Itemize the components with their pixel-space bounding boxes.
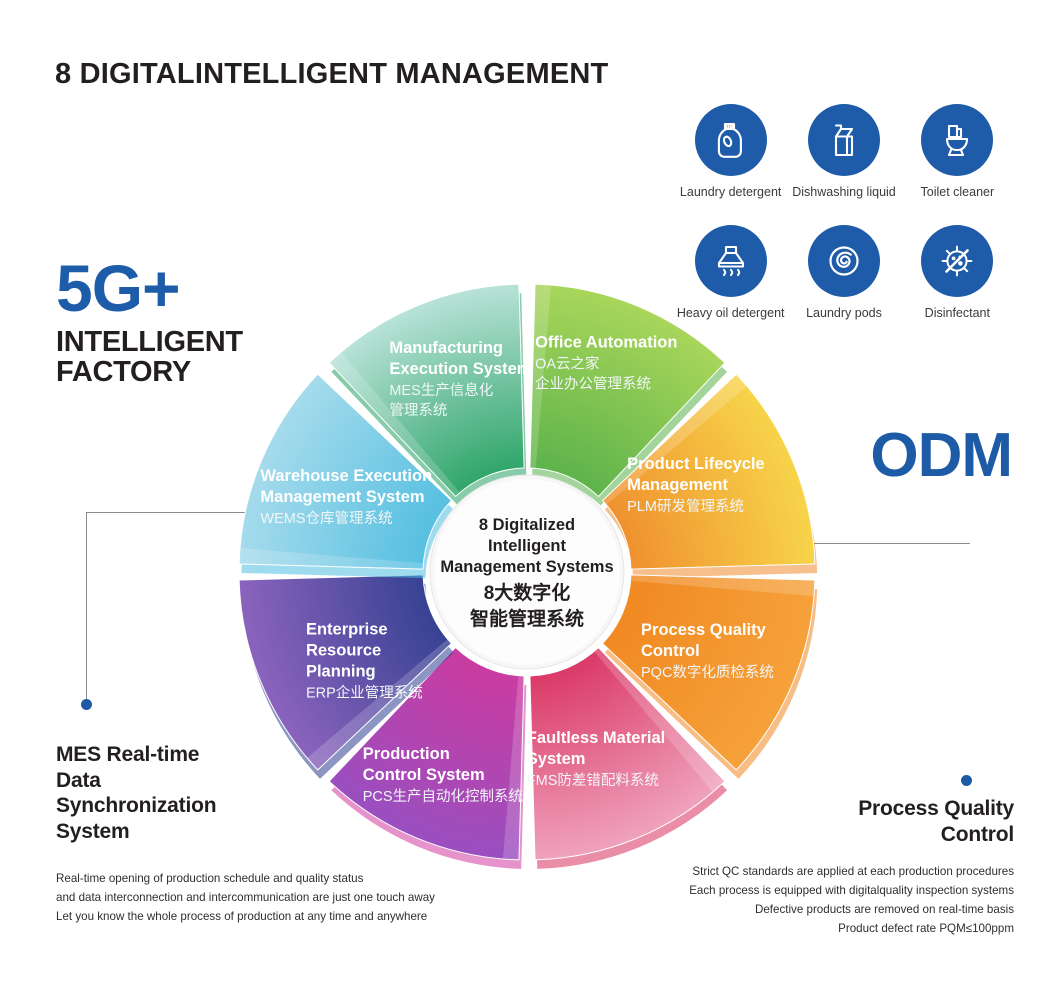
segment-text-line: MES生产信息化	[389, 382, 493, 399]
connector-right-dot	[961, 775, 972, 786]
brand-block: 5G+ INTELLIGENT FACTORY	[56, 258, 243, 388]
segment-text-line: 管理系统	[389, 402, 447, 419]
dishwashing-liquid-bottle-icon	[808, 104, 880, 176]
product-item-disinfectant[interactable]: Disinfectant	[901, 225, 1014, 320]
product-label: Disinfectant	[925, 306, 990, 320]
product-item-laundry-detergent[interactable]: Laundry detergent	[674, 104, 787, 199]
segment-text-line: Process Quality	[641, 621, 767, 639]
connector-left-vertical	[86, 512, 87, 704]
segment-text-line: WEMS仓库管理系统	[260, 510, 392, 527]
segment-text-line: PLM研发管理系统	[627, 498, 744, 515]
hub-line-3: Management Systems	[440, 558, 613, 576]
callout-left-body-line: Real-time opening of production schedule…	[56, 870, 436, 889]
callout-left-title: MES Real-time Data Synchronization Syste…	[56, 742, 436, 844]
hub-line-5: 智能管理系统	[470, 607, 584, 630]
segment-text-line: Management System	[260, 488, 424, 506]
odm-label: ODM	[870, 425, 1012, 487]
segment-text-line: Faultless Material	[527, 729, 665, 747]
callout-left-title-4: System	[56, 819, 436, 845]
brand-subline: INTELLIGENT FACTORY	[56, 327, 243, 388]
brand-subline-2: FACTORY	[56, 357, 243, 388]
callout-left-body-line: and data interconnection and intercommun…	[56, 889, 436, 908]
brand-headline: 5G+	[56, 258, 243, 319]
product-label: Laundry detergent	[680, 185, 781, 199]
callout-right-body: Strict QC standards are applied at each …	[654, 863, 1014, 939]
segment-text-line: 企业办公管理系统	[535, 374, 651, 392]
laundry-detergent-bottle-icon	[695, 104, 767, 176]
callout-right-body-line: Each process is equipped with digitalqua…	[654, 882, 1014, 901]
segment-text-line: OA云之家	[535, 355, 599, 372]
callout-right-title-2: Control	[654, 822, 1014, 848]
callout-right-body-line: Product defect rate PQM≤100ppm	[654, 920, 1014, 939]
callout-process-quality-control: Process Quality Control Strict QC standa…	[654, 796, 1014, 939]
product-item-toilet-cleaner[interactable]: Toilet cleaner	[901, 104, 1014, 199]
page-title: 8 DIGITALINTELLIGENT MANAGEMENT	[55, 58, 608, 91]
callout-left-body-line: Let you know the whole process of produc…	[56, 908, 436, 927]
connector-left-dot	[81, 699, 92, 710]
brand-subline-1: INTELLIGENT	[56, 327, 243, 358]
callout-left-title-3: Synchronization	[56, 793, 436, 819]
callout-right-title-1: Process Quality	[654, 796, 1014, 822]
toilet-cleaner-icon	[921, 104, 993, 176]
callout-right-body-line: Strict QC standards are applied at each …	[654, 863, 1014, 882]
callout-left-title-1: MES Real-time	[56, 742, 436, 768]
callout-left-body: Real-time opening of production schedule…	[56, 870, 436, 927]
callout-left-title-2: Data	[56, 768, 436, 794]
hub-line-1: 8 Digitalized	[479, 516, 575, 534]
germ-blocked-icon	[921, 225, 993, 297]
segment-text-line: FMS防差错配料系统	[527, 772, 659, 789]
segment-text-line: Enterprise	[306, 621, 388, 639]
product-item-dishwashing-liquid[interactable]: Dishwashing liquid	[787, 104, 900, 199]
segment-text-line: ERP企业管理系统	[306, 684, 423, 702]
callout-right-body-line: Defective products are removed on real-t…	[654, 901, 1014, 920]
segment-text-line: Execution System	[389, 360, 531, 378]
callout-right-title: Process Quality Control	[654, 796, 1014, 847]
product-label: Toilet cleaner	[921, 185, 995, 199]
callout-mes-realtime: MES Real-time Data Synchronization Syste…	[56, 742, 436, 927]
segment-text-line: Warehouse Execution	[260, 467, 432, 485]
segment-text-line: Office Automation	[535, 333, 677, 351]
segment-text-line: Manufacturing	[389, 339, 503, 357]
hub-line-2: Intelligent	[488, 537, 566, 555]
segment-text-line: Control	[641, 642, 700, 660]
segment-text-line: Product Lifecycle	[627, 455, 765, 473]
segment-text-line: Resource	[306, 642, 381, 660]
product-label: Dishwashing liquid	[792, 185, 896, 199]
segment-text-line: Management	[627, 476, 728, 494]
hub-line-4: 8大数字化	[484, 581, 571, 604]
wheel-hub: 8 Digitalized Intelligent Management Sys…	[430, 475, 624, 669]
segment-text-line: PQC数字化质检系统	[641, 664, 774, 681]
segment-text-line: Planning	[306, 663, 376, 681]
segment-text-line: System	[527, 750, 586, 768]
